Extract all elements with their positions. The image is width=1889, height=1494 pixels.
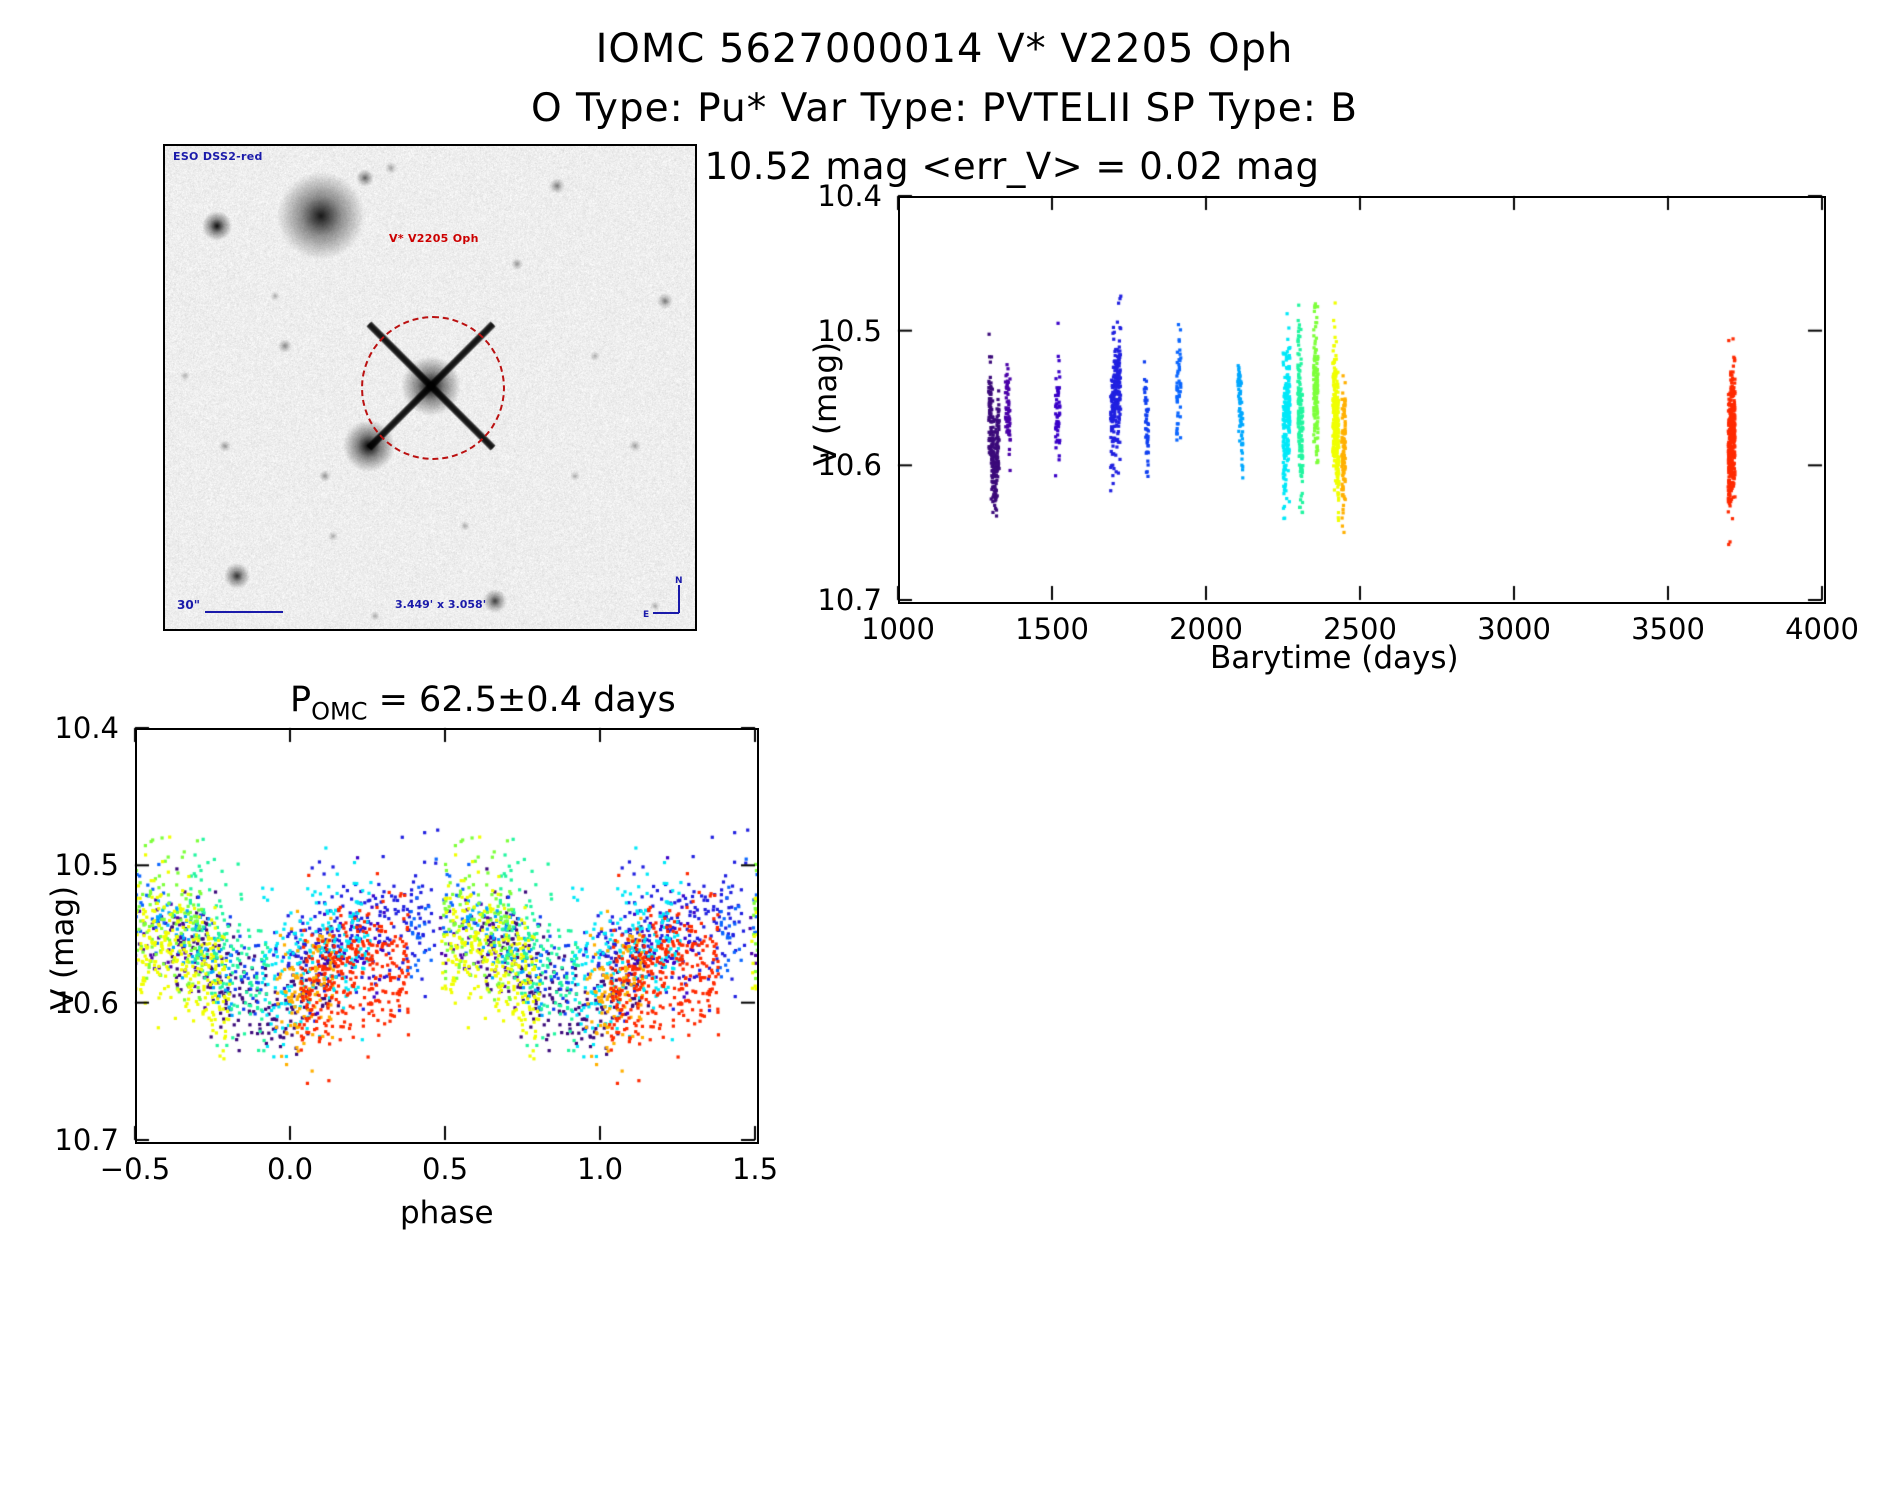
ph-axes-xtick: 0.5 xyxy=(422,1152,468,1186)
period-symbol: P xyxy=(290,680,311,720)
scalebar-label: 30" xyxy=(177,598,200,612)
survey-label: ESO DSS2-red xyxy=(173,150,263,163)
ph-axes-ticks xyxy=(133,726,757,1142)
ph-axes-ytick: 10.4 xyxy=(54,711,119,745)
object-type-line: O Type: Pu* Var Type: PVTELII SP Type: B xyxy=(0,86,1889,131)
target-star-label: V* V2205 Oph xyxy=(389,232,479,245)
lc-axes-ytick: 10.4 xyxy=(817,179,882,213)
finder-chart: ESO DSS2-red V* V2205 Oph 30" 3.449' x 3… xyxy=(163,144,697,631)
light-curve-ylabel: V (mag) xyxy=(808,342,844,466)
ph-axes-xtick: 1.0 xyxy=(577,1152,623,1186)
light-curve-xlabel: Barytime (days) xyxy=(1210,640,1459,676)
lc-axes-xtick: 1000 xyxy=(861,612,935,646)
ph-axes-ytick: 10.5 xyxy=(54,848,119,882)
lc-axes-ytick: 10.7 xyxy=(817,583,882,617)
lc-axes-xtick: 4000 xyxy=(1785,612,1859,646)
svg-text:E: E xyxy=(643,610,649,620)
ph-axes-xtick: 1.5 xyxy=(732,1152,778,1186)
ph-axes-xtick: 0.0 xyxy=(267,1152,313,1186)
phase-plot-title: POMC = 62.5±0.4 days xyxy=(290,680,676,725)
lc-axes-ticks xyxy=(896,194,1824,602)
target-aperture-circle xyxy=(361,316,505,460)
period-subscript: OMC xyxy=(311,697,367,725)
lc-axes-xtick: 1500 xyxy=(1015,612,1089,646)
phase-plot-ylabel: V (mag) xyxy=(45,886,81,1010)
scalebar-line xyxy=(205,611,283,613)
lc-axes-xtick: 3500 xyxy=(1631,612,1705,646)
phase-plot-xlabel: phase xyxy=(400,1195,494,1231)
vmed-values: = 10.52 mag <err_V> = 0.02 mag xyxy=(649,145,1320,188)
ph-axes-ytick: 10.7 xyxy=(54,1123,119,1157)
period-value: = 62.5±0.4 days xyxy=(367,680,675,720)
svg-text:N: N xyxy=(675,576,683,586)
compass-icon: N E xyxy=(641,575,687,621)
fov-size-label: 3.449' x 3.058' xyxy=(395,598,486,611)
ph-axes-xtick: −0.5 xyxy=(100,1152,170,1186)
page-title: IOMC 5627000014 V* V2205 Oph xyxy=(0,26,1889,72)
lc-axes-xtick: 3000 xyxy=(1477,612,1551,646)
